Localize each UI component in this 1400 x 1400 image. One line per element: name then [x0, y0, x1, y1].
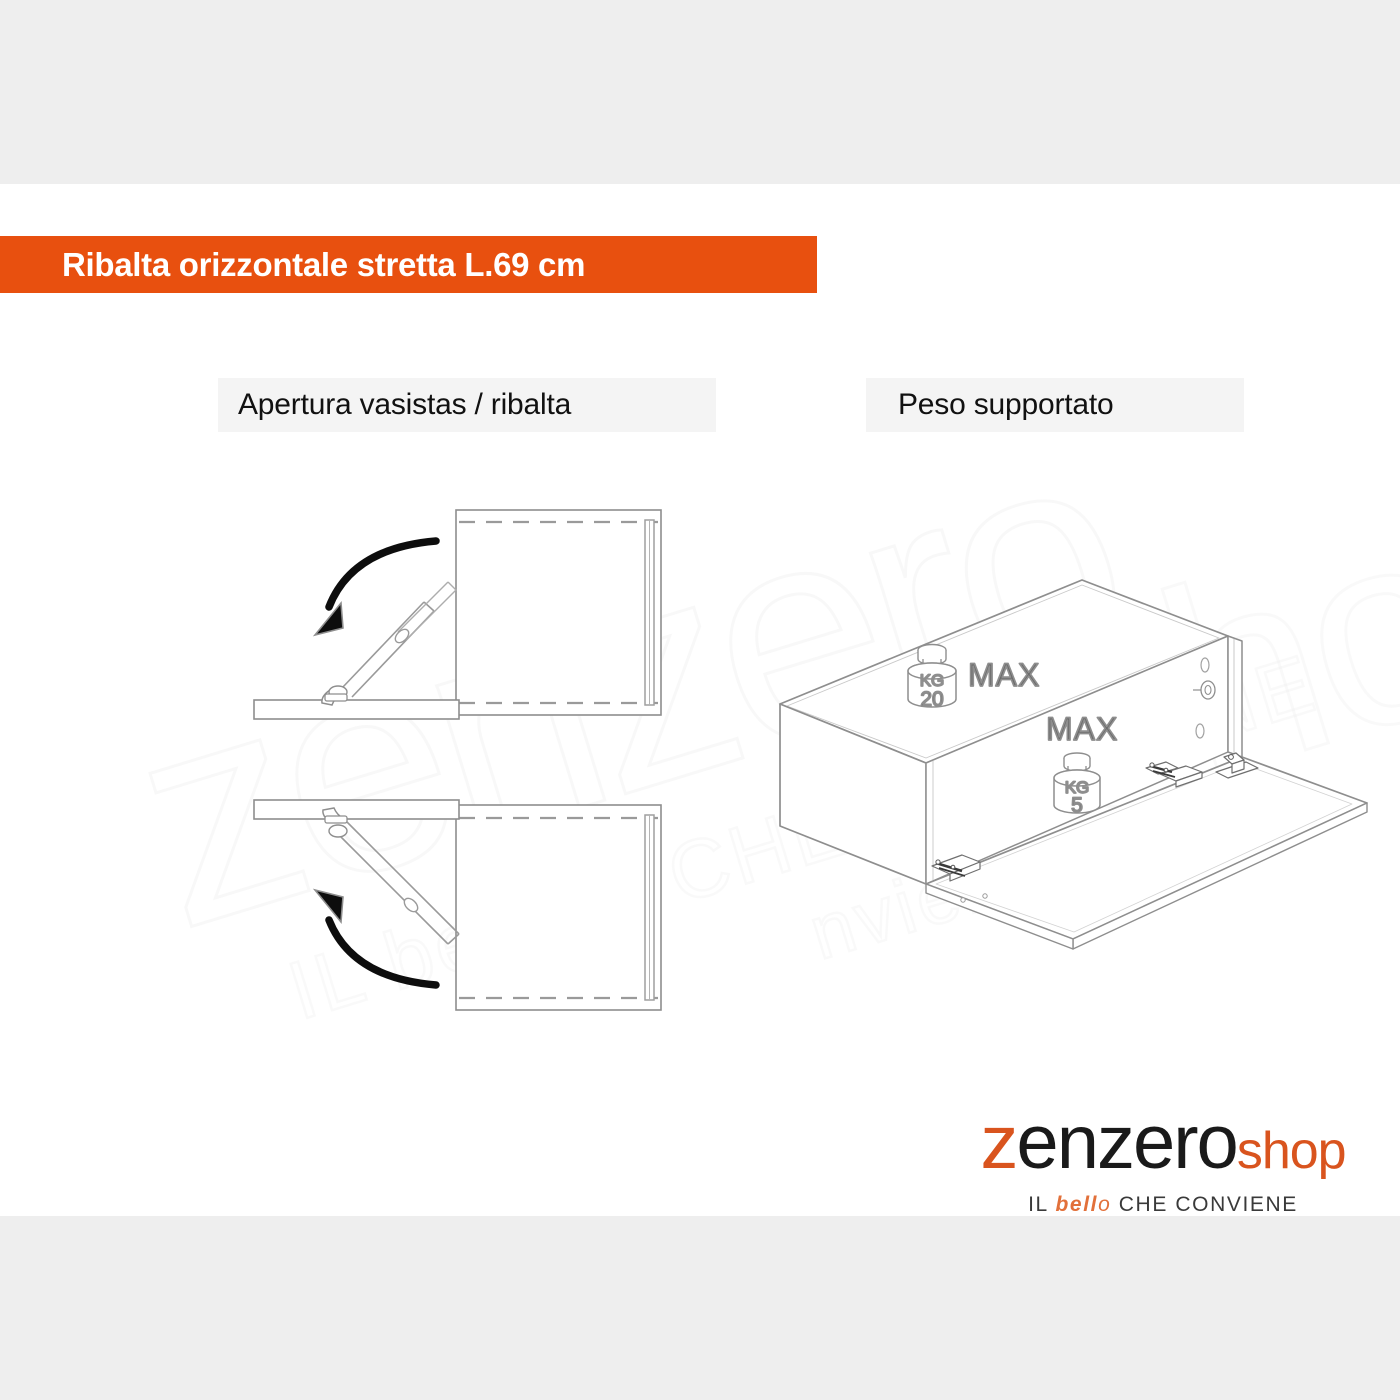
section-label-weight: Peso supportato — [866, 378, 1244, 432]
drill-mark-a — [961, 898, 965, 902]
hinge-lower — [932, 855, 980, 881]
brand-logo-wordmark: zenzeroshop — [948, 1104, 1378, 1190]
brand-logo: zenzeroshop IL bello CHE CONVIENE — [948, 1104, 1378, 1212]
weight-kg5-max-label: MAX — [1046, 711, 1118, 747]
hinge-plate-right — [1216, 753, 1258, 778]
piston-bracket — [322, 690, 342, 705]
mounting-hole-bottom — [1196, 724, 1204, 738]
top-gray-band — [0, 0, 1400, 184]
cabinet-left-face — [780, 704, 926, 884]
bottom-gray-band — [0, 1216, 1400, 1400]
brand-tagline: IL bello CHE CONVIENE — [948, 1192, 1378, 1218]
diagram-cabinet-isometric: KG 20 MAX KG 5 MAX — [780, 580, 1367, 949]
cam-fitting — [1193, 681, 1215, 699]
weight-kg20-value: 20 — [920, 688, 943, 711]
door-panel-open — [254, 800, 459, 819]
weight-kg5: KG 5 — [1054, 753, 1100, 817]
vertical-rail-2 — [645, 815, 654, 1000]
svg-text:zenzero: zenzero — [100, 378, 1152, 991]
tagline-bell: bell — [1056, 1193, 1099, 1216]
cabinet-back-inner — [926, 636, 1228, 884]
weight-kg20-max-label: MAX — [968, 657, 1040, 693]
hinge-upper — [1146, 762, 1202, 787]
page-title: Ribalta orizzontale stretta L.69 cm — [0, 246, 585, 284]
diagram-door-opening — [254, 800, 661, 1010]
watermark-right: o shop nviene — [800, 425, 1400, 977]
logo-shop: shop — [1237, 1122, 1346, 1180]
section-label-opening-text: Apertura vasistas / ribalta — [218, 388, 571, 422]
gas-piston-closing — [322, 582, 456, 705]
weight-kg20-unit: KG — [920, 671, 945, 690]
tagline-rest: CHE CONVIENE — [1111, 1193, 1298, 1216]
cabinet-body-closed — [456, 510, 661, 715]
section-label-opening: Apertura vasistas / ribalta — [218, 378, 716, 432]
logo-enzero: enzero — [1016, 1100, 1236, 1185]
svg-text:o shop: o shop — [809, 425, 1400, 937]
cabinet-body-open — [456, 805, 661, 1010]
logo-z: z — [980, 1100, 1016, 1185]
vertical-rail — [645, 520, 654, 705]
tagline-il: IL — [1028, 1193, 1055, 1216]
cabinet-right-panel — [1228, 636, 1242, 757]
gas-piston-opening — [323, 808, 459, 944]
svg-text:nviene: nviene — [800, 822, 1062, 976]
weight-kg5-value: 5 — [1071, 794, 1083, 817]
arrow-close-down — [315, 541, 436, 635]
flap-door-top-face — [926, 757, 1367, 939]
door-panel-closed — [254, 700, 459, 719]
watermark: zenzero IL bello o CHE CONVIENE — [100, 378, 1327, 1037]
weight-kg20: KG 20 — [908, 645, 956, 712]
tagline-o: o — [1098, 1193, 1111, 1216]
weight-kg5-unit: KG — [1065, 778, 1090, 797]
svg-text:IL bello o CHE CONVIENE: IL bello o CHE CONVIENE — [279, 638, 1328, 1038]
title-banner: Ribalta orizzontale stretta L.69 cm — [0, 236, 817, 293]
cabinet-top-face — [780, 580, 1228, 763]
diagram-door-closing — [254, 510, 661, 719]
flap-door-edge — [1073, 803, 1367, 949]
section-label-weight-text: Peso supportato — [866, 388, 1113, 422]
drill-mark-b — [983, 894, 987, 898]
arrow-open-up — [315, 890, 436, 985]
mounting-hole-top — [1201, 658, 1209, 672]
